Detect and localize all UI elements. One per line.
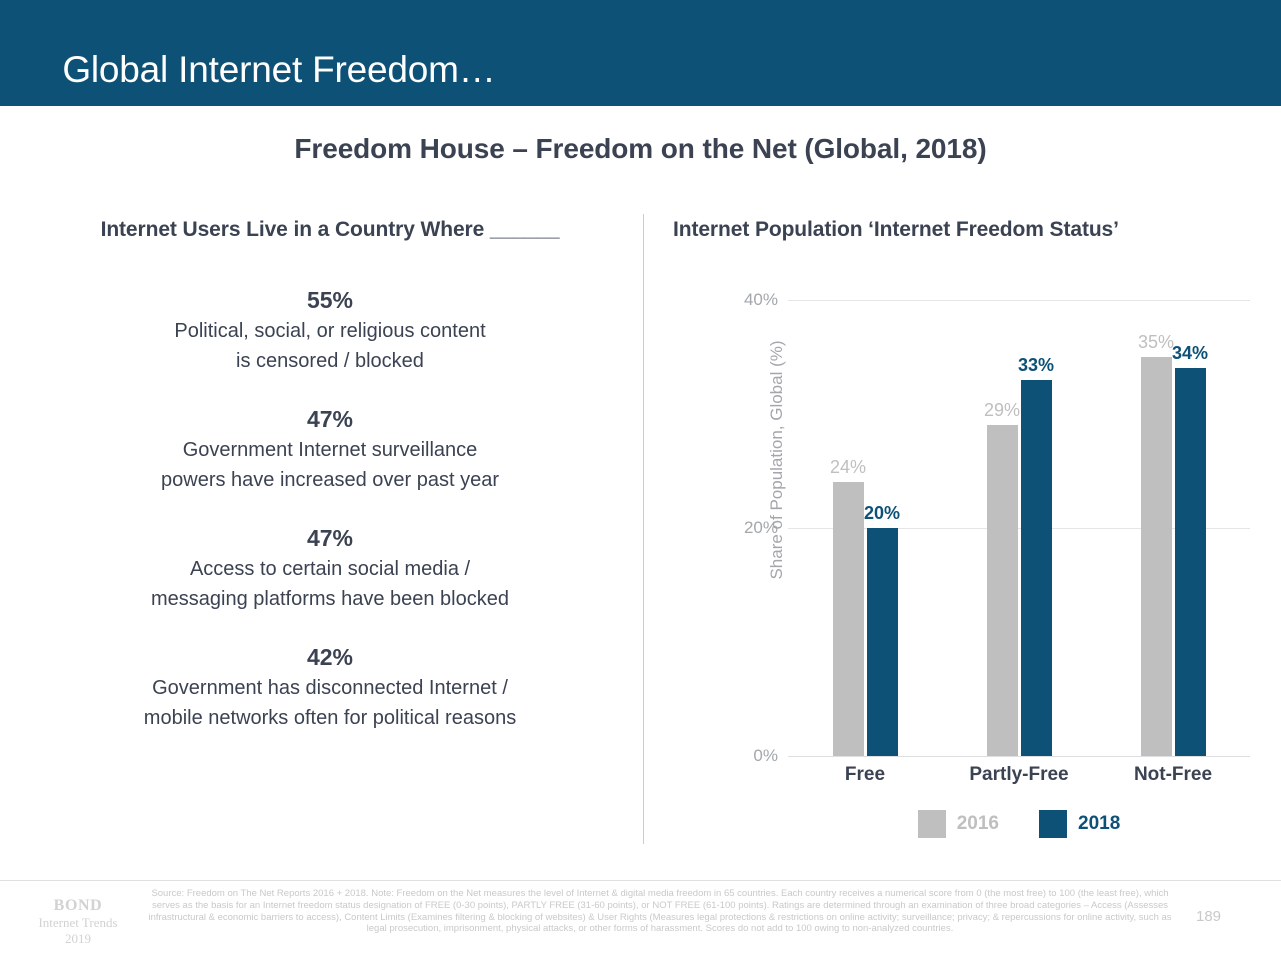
bar-2018-not-free[interactable]: 34% xyxy=(1175,368,1206,756)
fact-description: Political, social, or religious content … xyxy=(20,316,640,376)
legend-item-2018[interactable]: 2018 xyxy=(1039,810,1120,838)
x-axis-tick-label: Partly-Free xyxy=(964,764,1074,786)
y-axis-tick-label: 20% xyxy=(708,518,778,538)
fact-description: Access to certain social media / messagi… xyxy=(20,554,640,614)
bar-2018-partly-free[interactable]: 33% xyxy=(1021,380,1052,756)
fact-item: 47% Government Internet surveillance pow… xyxy=(20,403,640,495)
bar-value-label: 33% xyxy=(1018,355,1054,376)
bar-2016-not-free[interactable]: 35% xyxy=(1141,357,1172,756)
legend-swatch-icon xyxy=(918,810,946,838)
fact-item: 55% Political, social, or religious cont… xyxy=(20,284,640,376)
right-panel: Internet Population ‘Internet Freedom St… xyxy=(660,218,1260,242)
slide-header-band: Global Internet Freedom… Partly-Free = R… xyxy=(0,0,1281,106)
bond-logo-year: 2019 xyxy=(24,931,132,947)
fact-percentage: 55% xyxy=(20,284,640,316)
y-axis-tick-label: 40% xyxy=(708,290,778,310)
bar-value-label: 34% xyxy=(1172,343,1208,364)
bar-2016-free[interactable]: 24% xyxy=(833,482,864,756)
left-panel: Internet Users Live in a Country Where _… xyxy=(20,218,640,760)
page-number: 189 xyxy=(1196,908,1221,925)
legend-item-2016[interactable]: 2016 xyxy=(918,810,999,838)
chart-bar-groups: 24%20%29%33%35%34% xyxy=(788,300,1250,756)
fact-description: Government Internet surveillance powers … xyxy=(20,435,640,495)
bar-group: 24%20% xyxy=(810,300,920,756)
fact-description: Government has disconnected Internet / m… xyxy=(20,673,640,733)
chart-plot-area: 0%20%40% 24%20%29%33%35%34% xyxy=(788,300,1250,756)
source-note: Source: Freedom on The Net Reports 2016 … xyxy=(138,888,1182,935)
bar-chart: Share of Population, Global (%) 0%20%40%… xyxy=(660,282,1260,802)
panel-divider xyxy=(643,214,644,844)
bar-2018-free[interactable]: 20% xyxy=(867,528,898,756)
x-axis-tick-label: Not-Free xyxy=(1118,764,1228,786)
gridline xyxy=(788,756,1250,757)
x-axis-labels: FreePartly-FreeNot-Free xyxy=(788,764,1250,786)
fact-item: 47% Access to certain social media / mes… xyxy=(20,522,640,614)
bar-value-label: 24% xyxy=(830,457,866,478)
bar-group: 35%34% xyxy=(1118,300,1228,756)
fact-percentage: 47% xyxy=(20,403,640,435)
chart-title: Internet Population ‘Internet Freedom St… xyxy=(673,218,1260,242)
y-axis-tick-label: 0% xyxy=(708,746,778,766)
bond-logo-subtitle: Internet Trends xyxy=(24,915,132,931)
legend-label: 2016 xyxy=(957,813,999,835)
fact-item: 42% Government has disconnected Internet… xyxy=(20,641,640,733)
bond-logo: BOND Internet Trends 2019 xyxy=(24,896,132,947)
page-title: Freedom House – Freedom on the Net (Glob… xyxy=(0,133,1281,165)
legend-label: 2018 xyxy=(1078,813,1120,835)
legend-swatch-icon xyxy=(1039,810,1067,838)
y-axis-title: Share of Population, Global (%) xyxy=(767,335,787,585)
bar-value-label: 35% xyxy=(1138,332,1174,353)
footer-divider xyxy=(0,880,1281,881)
bar-2016-partly-free[interactable]: 29% xyxy=(987,425,1018,756)
bar-value-label: 29% xyxy=(984,400,1020,421)
left-panel-heading: Internet Users Live in a Country Where _… xyxy=(20,218,640,242)
bar-value-label: 20% xyxy=(864,503,900,524)
bar-group: 29%33% xyxy=(964,300,1074,756)
fact-percentage: 42% xyxy=(20,641,640,673)
fact-percentage: 47% xyxy=(20,522,640,554)
bond-logo-name: BOND xyxy=(24,896,132,915)
slide-header-title-line1: Global Internet Freedom… xyxy=(62,49,495,90)
chart-legend: 2016 2018 xyxy=(788,810,1250,838)
x-axis-tick-label: Free xyxy=(810,764,920,786)
